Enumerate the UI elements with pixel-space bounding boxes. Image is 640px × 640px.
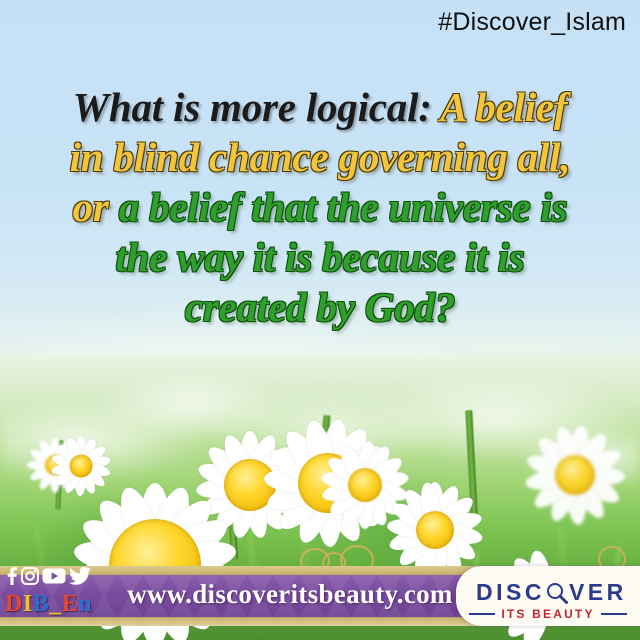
quote-block: What is more logical: A belief in blind … <box>0 82 640 332</box>
quote-line-3: or a belief that the universe is <box>0 182 640 232</box>
quote-line-3-gold: or <box>73 184 109 230</box>
handle-letter: n <box>78 591 92 617</box>
quote-line-5: created by God? <box>0 282 640 332</box>
handle-letter: D <box>5 591 23 617</box>
instagram-icon[interactable] <box>21 567 39 590</box>
quote-line-1-black: What is more logical: <box>73 84 432 130</box>
logo-text-before: DISC <box>476 579 545 606</box>
logo-rule-left <box>469 613 495 615</box>
quote-line-2-gold: in blind chance governing all, <box>70 134 571 180</box>
logo-text-after: VER <box>569 579 627 606</box>
quote-line-4: the way it is because it is <box>0 232 640 282</box>
quote-line-1: What is more logical: A belief <box>0 82 640 132</box>
social-icons-group <box>6 569 98 588</box>
quote-line-4-green: the way it is because it is <box>115 234 524 280</box>
quote-line-2: in blind chance governing all, <box>0 132 640 182</box>
handle-letter: I <box>23 591 33 617</box>
logo-tagline: ITS BEAUTY <box>456 607 640 621</box>
quote-line-1-gold: A belief <box>440 84 567 130</box>
magnifier-icon <box>546 582 568 604</box>
quote-line-5-green: created by God? <box>185 284 455 330</box>
poster-canvas: #Discover_Islam What is more logical: A … <box>0 0 640 640</box>
hashtag-label: #Discover_Islam <box>438 8 626 37</box>
handle-label: DIB_En <box>5 592 92 616</box>
logo-rule-right <box>601 613 627 615</box>
handle-letter: _ <box>49 591 62 617</box>
quote-line-3-green: a belief that the universe is <box>119 184 568 230</box>
handle-letter: B <box>33 591 50 617</box>
facebook-icon[interactable] <box>6 567 18 590</box>
logo-wordmark: DISC VER <box>476 579 627 606</box>
logo-tagline-text: ITS BEAUTY <box>501 607 594 621</box>
twitter-icon[interactable] <box>69 567 91 590</box>
handle-letter: E <box>62 591 79 617</box>
discover-logo[interactable]: DISC VER ITS BEAUTY <box>456 566 640 626</box>
youtube-icon[interactable] <box>42 567 66 590</box>
